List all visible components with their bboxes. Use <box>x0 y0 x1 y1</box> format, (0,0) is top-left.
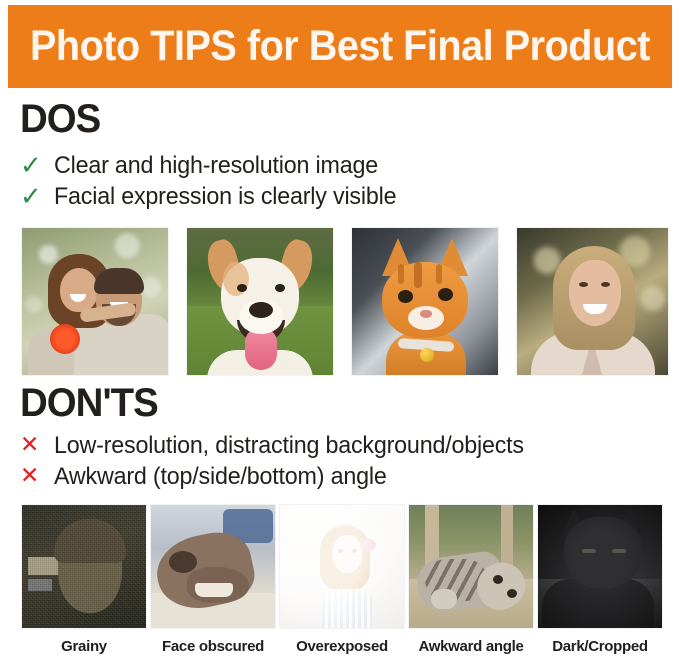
woman-eye-right <box>601 282 610 287</box>
dos-photo-woman <box>517 228 668 375</box>
dont-photo-dark-cropped <box>538 505 662 628</box>
woman-eye-left <box>579 282 588 287</box>
grain-noise-overlay <box>22 505 146 628</box>
overexposure-overlay <box>280 505 404 628</box>
donts-bullet-2-label: Awkward (top/side/bottom) angle <box>54 463 387 491</box>
check-icon: ✓ <box>20 153 54 179</box>
dos-bullet-1-label: Clear and high-resolution image <box>54 152 378 180</box>
dog-tongue <box>245 328 277 370</box>
caption-grainy: Grainy <box>22 638 146 655</box>
cat-stripe <box>398 264 404 284</box>
dos-bullet-list: ✓ Clear and high-resolution image ✓ Faci… <box>20 150 407 212</box>
dog-eye-left <box>237 284 247 292</box>
donts-bullet-list: ✕ Low-resolution, distracting background… <box>20 430 538 492</box>
header-banner: Photo TIPS for Best Final Product <box>8 5 672 88</box>
donts-bullet-1: ✕ Low-resolution, distracting background… <box>20 430 538 461</box>
dos-bullet-2: ✓ Facial expression is clearly visible <box>20 181 407 212</box>
check-icon: ✓ <box>20 184 54 210</box>
dos-bullet-1: ✓ Clear and high-resolution image <box>20 150 407 181</box>
dos-heading: DOS <box>20 99 100 139</box>
dos-photo-row <box>22 228 668 375</box>
cat-eye-right <box>438 288 453 301</box>
page-title: Photo TIPS for Best Final Product <box>30 25 650 68</box>
donts-bullet-2: ✕ Awkward (top/side/bottom) angle <box>20 461 538 492</box>
cat-eye-left <box>493 575 503 584</box>
dark-vignette-overlay <box>538 505 662 628</box>
photo-tips-infographic: Photo TIPS for Best Final Product DOS ✓ … <box>0 0 679 663</box>
dog-nose <box>169 551 197 573</box>
caption-dark-cropped: Dark/Cropped <box>538 638 662 655</box>
dos-photo-cat <box>352 228 498 375</box>
flower <box>50 324 80 354</box>
dos-photo-dog <box>187 228 333 375</box>
cat-paw <box>431 589 457 609</box>
cross-icon: ✕ <box>20 465 54 488</box>
donts-bullet-1-label: Low-resolution, distracting background/o… <box>54 432 524 460</box>
caption-face-obscured: Face obscured <box>151 638 275 655</box>
cat-stripe <box>436 264 442 284</box>
cat-stripe <box>414 262 422 288</box>
dos-bullet-2-label: Facial expression is clearly visible <box>54 183 396 211</box>
cross-icon: ✕ <box>20 434 54 457</box>
woman-face <box>569 260 621 326</box>
cat-bell <box>420 348 434 362</box>
dos-photo-couple <box>22 228 168 375</box>
cat-eye-right <box>507 589 517 598</box>
dog-nose <box>249 302 273 318</box>
dont-photo-face-obscured <box>151 505 275 628</box>
dog-eye-right <box>275 284 285 292</box>
dont-photo-awkward-angle <box>409 505 533 628</box>
woman-face <box>60 268 98 312</box>
donts-heading: DON'TS <box>20 383 158 423</box>
man-hair <box>94 268 144 294</box>
caption-overexposed: Overexposed <box>280 638 404 655</box>
donts-photo-row <box>22 505 662 628</box>
dog-teeth <box>195 583 233 597</box>
dont-photo-grainy <box>22 505 146 628</box>
donts-caption-row: Grainy Face obscured Overexposed Awkward… <box>22 638 662 655</box>
caption-awkward-angle: Awkward angle <box>409 638 533 655</box>
cat-eye-left <box>398 290 413 303</box>
cat-nose <box>420 310 432 318</box>
dont-photo-overexposed <box>280 505 404 628</box>
